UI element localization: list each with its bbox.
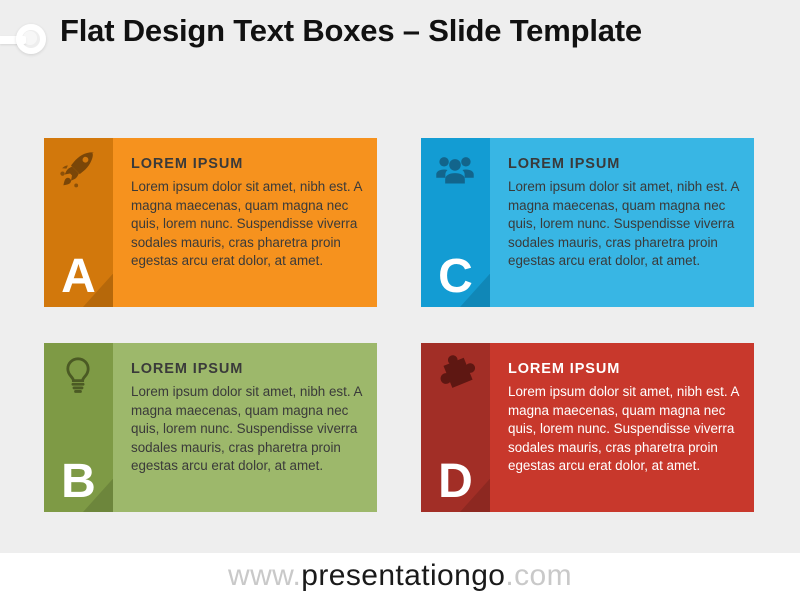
box-a-letter: A [44, 251, 113, 303]
text-box-d[interactable]: D LOREM IPSUM Lorem ipsum dolor sit amet… [421, 343, 754, 512]
box-b-sidebar: B [44, 343, 113, 512]
footer-bar: www.presentationgo.com [0, 553, 800, 600]
footer-website-url[interactable]: www.presentationgo.com [0, 556, 800, 596]
box-c-body: LOREM IPSUM Lorem ipsum dolor sit amet, … [490, 138, 754, 307]
box-b-body: LOREM IPSUM Lorem ipsum dolor sit amet, … [113, 343, 377, 512]
people-group-icon [433, 150, 477, 190]
text-box-a[interactable]: A LOREM IPSUM Lorem ipsum dolor sit amet… [44, 138, 377, 307]
puzzle-piece-icon [433, 355, 477, 395]
lightbulb-icon [56, 355, 100, 395]
pin-bar [0, 36, 26, 44]
rocket-icon [56, 150, 100, 190]
box-d-letter: D [421, 456, 490, 508]
box-b-letter: B [44, 456, 113, 508]
box-a-text: Lorem ipsum dolor sit amet, nibh est. A … [131, 178, 363, 271]
ring-pin-decoration [0, 22, 56, 58]
box-c-sidebar: C [421, 138, 490, 307]
box-a-heading: LOREM IPSUM [131, 155, 363, 173]
box-b-text: Lorem ipsum dolor sit amet, nibh est. A … [131, 383, 363, 476]
box-c-letter: C [421, 251, 490, 303]
box-d-text: Lorem ipsum dolor sit amet, nibh est. A … [508, 383, 740, 476]
box-a-sidebar: A [44, 138, 113, 307]
url-main: presentationgo [301, 559, 505, 592]
box-d-body: LOREM IPSUM Lorem ipsum dolor sit amet, … [490, 343, 754, 512]
text-box-c[interactable]: C LOREM IPSUM Lorem ipsum dolor sit amet… [421, 138, 754, 307]
url-prefix: www. [228, 559, 301, 592]
box-c-heading: LOREM IPSUM [508, 155, 740, 173]
url-suffix: .com [505, 559, 572, 592]
box-d-heading: LOREM IPSUM [508, 360, 740, 378]
page-title: Flat Design Text Boxes – Slide Template [60, 12, 720, 50]
text-box-b[interactable]: B LOREM IPSUM Lorem ipsum dolor sit amet… [44, 343, 377, 512]
pin-ring-icon [16, 24, 46, 54]
box-b-heading: LOREM IPSUM [131, 360, 363, 378]
box-a-body: LOREM IPSUM Lorem ipsum dolor sit amet, … [113, 138, 377, 307]
box-c-text: Lorem ipsum dolor sit amet, nibh est. A … [508, 178, 740, 271]
box-d-sidebar: D [421, 343, 490, 512]
